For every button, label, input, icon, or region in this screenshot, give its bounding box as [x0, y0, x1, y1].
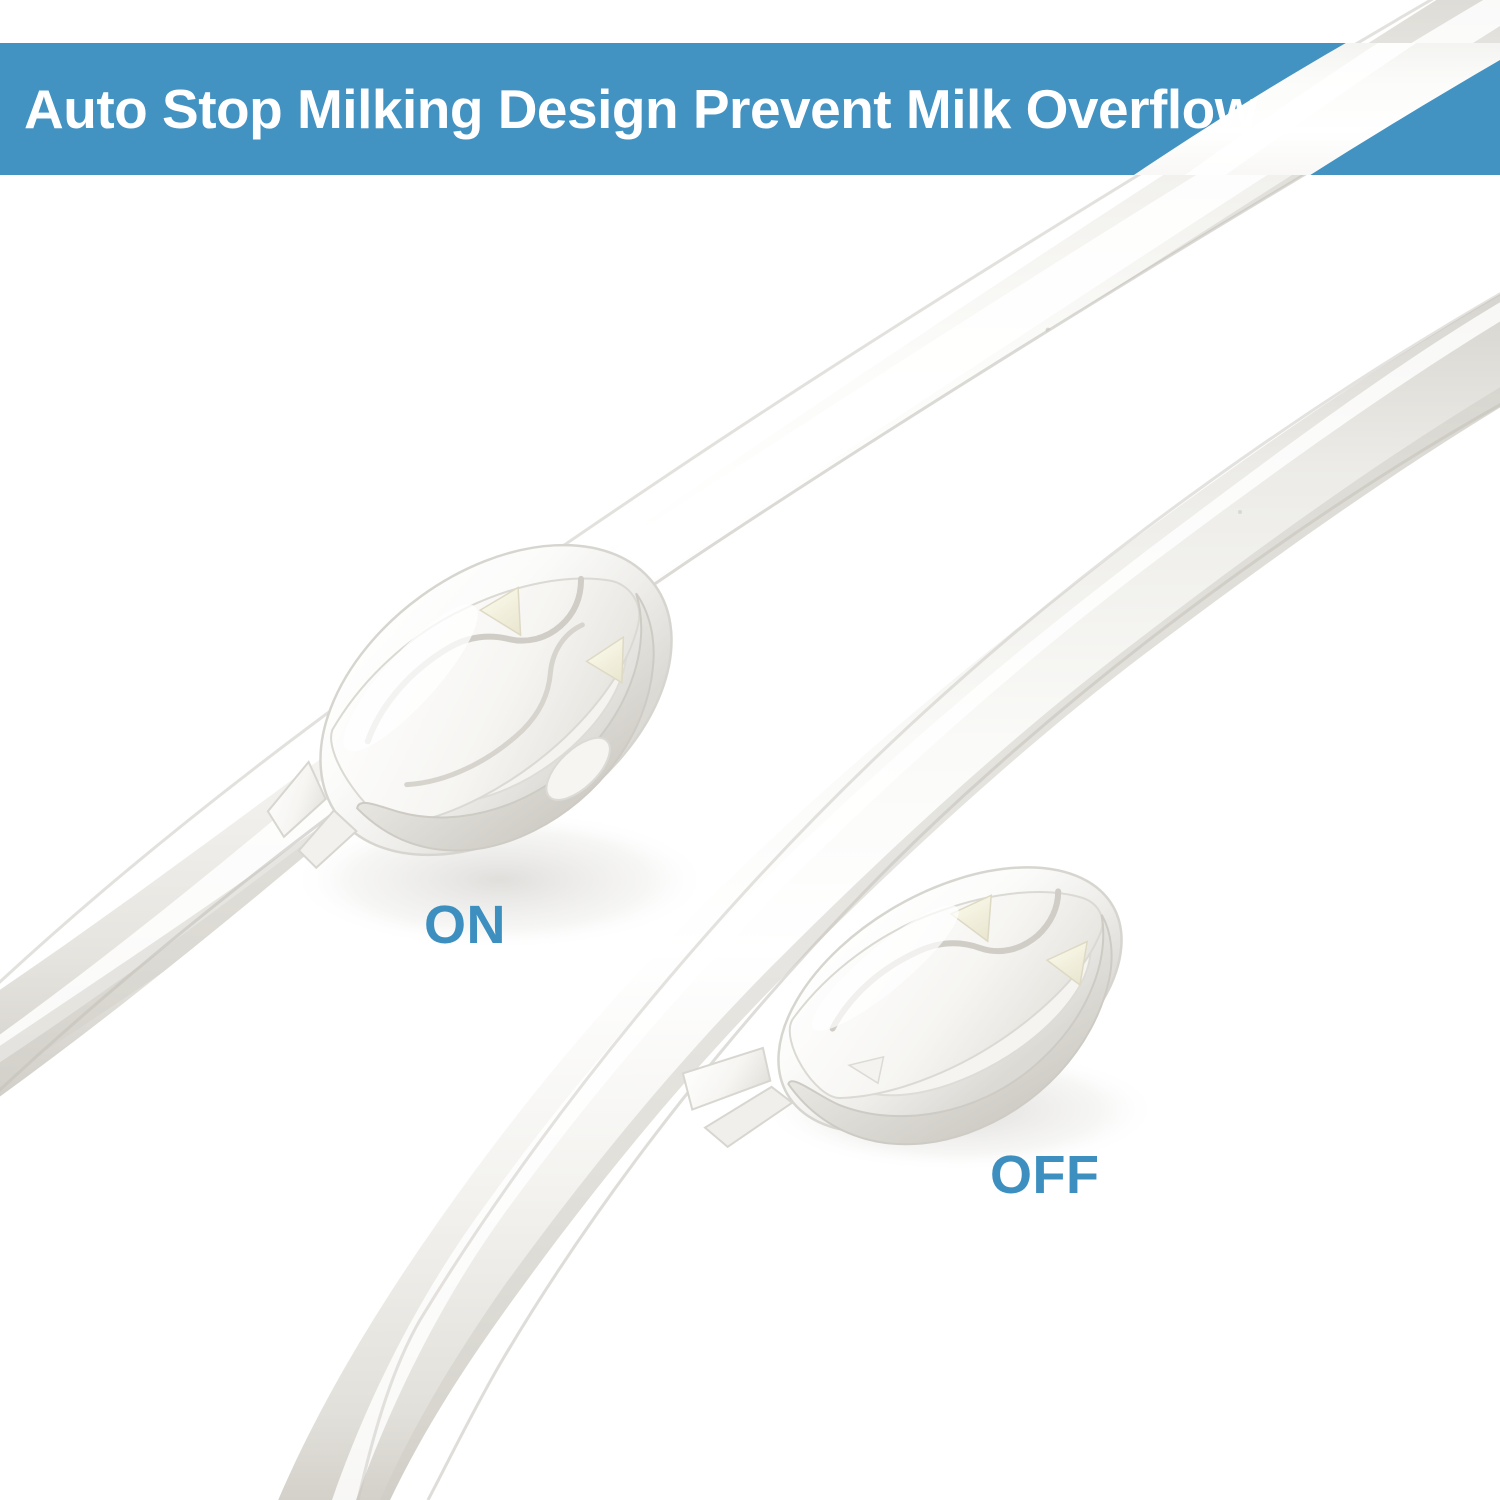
state-label-on: ON: [424, 898, 506, 952]
state-label-off: OFF: [990, 1148, 1099, 1202]
headline-banner: [0, 43, 1500, 175]
product-photo: [0, 0, 1500, 1500]
product-feature-image: Auto Stop Milking Design Prevent Milk Ov…: [0, 0, 1500, 1500]
